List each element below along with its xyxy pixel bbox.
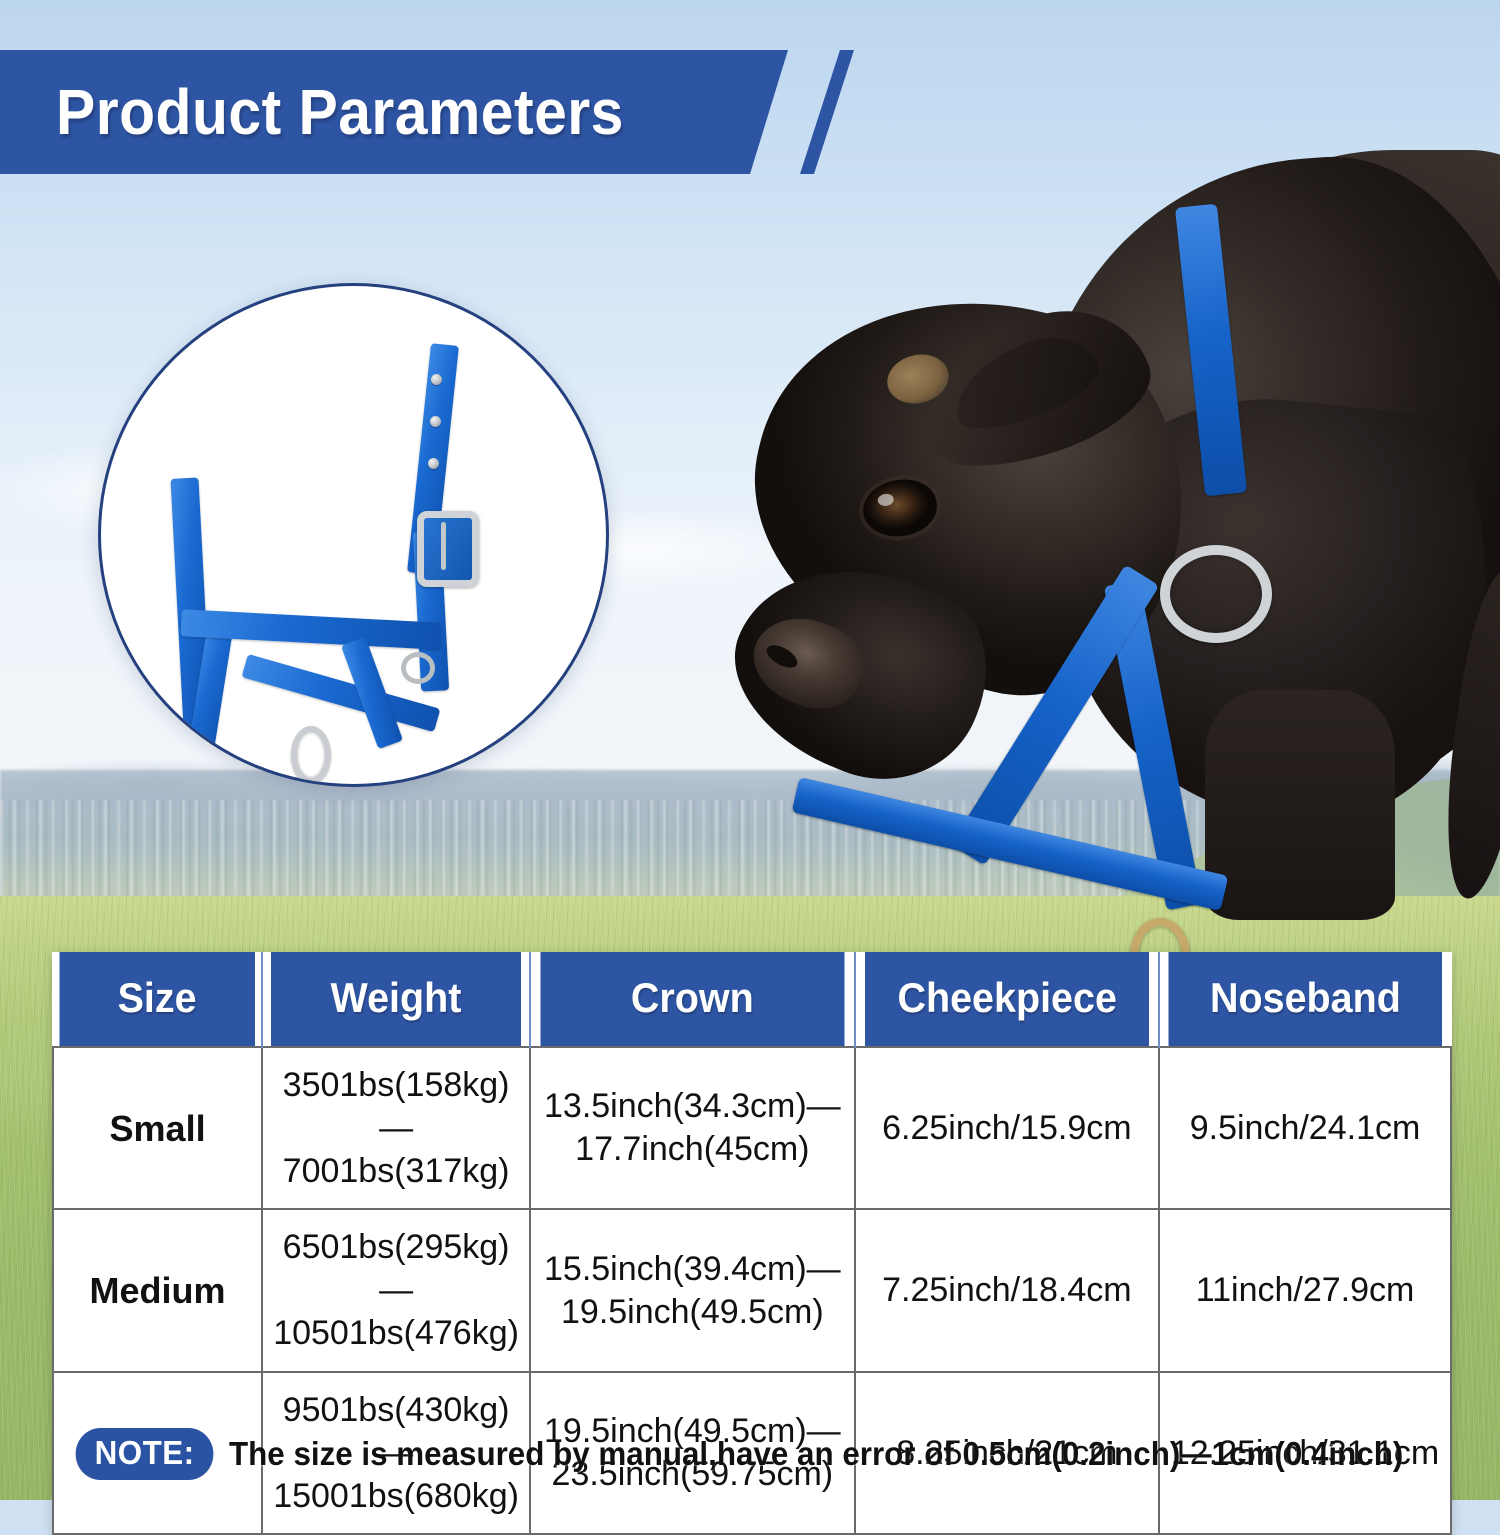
- page-title: Product Parameters: [56, 75, 624, 149]
- table-row: Medium 6501bs(295kg)—10501bs(476kg) 15.5…: [53, 1209, 1451, 1371]
- note-text: The size is measured by manual,have an e…: [229, 1435, 1403, 1473]
- column-header-size: Size: [59, 952, 256, 1047]
- cell-cheekpiece: 6.25inch/15.9cm: [855, 1047, 1159, 1209]
- product-lead-ring-icon: [291, 726, 331, 784]
- column-header-weight: Weight: [270, 952, 522, 1047]
- table-row: Small 3501bs(158kg)—7001bs(317kg) 13.5in…: [53, 1047, 1451, 1209]
- header-banner: Product Parameters: [0, 50, 900, 174]
- product-inset-circle: [98, 283, 609, 787]
- calf-photo: [735, 150, 1500, 910]
- product-d-ring-icon: [401, 652, 435, 684]
- cell-weight: 3501bs(158kg)—7001bs(317kg): [262, 1047, 530, 1209]
- product-rivet-icon: [431, 374, 442, 385]
- cell-weight: 6501bs(295kg)—10501bs(476kg): [262, 1209, 530, 1371]
- cell-noseband: 11inch/27.9cm: [1159, 1209, 1451, 1371]
- cell-noseband: 9.5inch/24.1cm: [1159, 1047, 1451, 1209]
- cell-size: Medium: [53, 1209, 262, 1371]
- column-header-noseband: Noseband: [1168, 952, 1442, 1047]
- cell-cheekpiece: 7.25inch/18.4cm: [855, 1209, 1159, 1371]
- calf-leg: [1205, 690, 1395, 920]
- note-badge: NOTE:: [76, 1428, 214, 1480]
- column-header-crown: Crown: [540, 952, 845, 1047]
- table-header-row: Size Weight Crown Cheekpiece Noseband: [53, 952, 1451, 1047]
- column-header-cheekpiece: Cheekpiece: [864, 952, 1150, 1047]
- note-row: NOTE: The size is measured by manual,hav…: [72, 1428, 1465, 1480]
- cell-size: Small: [53, 1047, 262, 1209]
- banner-shape: Product Parameters: [0, 50, 788, 174]
- banner-slash-accent-icon: [800, 50, 854, 174]
- product-rivet-icon: [428, 458, 439, 469]
- cell-crown: 15.5inch(39.4cm)—19.5inch(49.5cm): [530, 1209, 855, 1371]
- product-rivet-icon: [430, 416, 441, 427]
- halter-side-ring-icon: [1160, 545, 1272, 643]
- product-buckle-icon: [417, 511, 479, 587]
- cell-crown: 13.5inch(34.3cm)—17.7inch(45cm): [530, 1047, 855, 1209]
